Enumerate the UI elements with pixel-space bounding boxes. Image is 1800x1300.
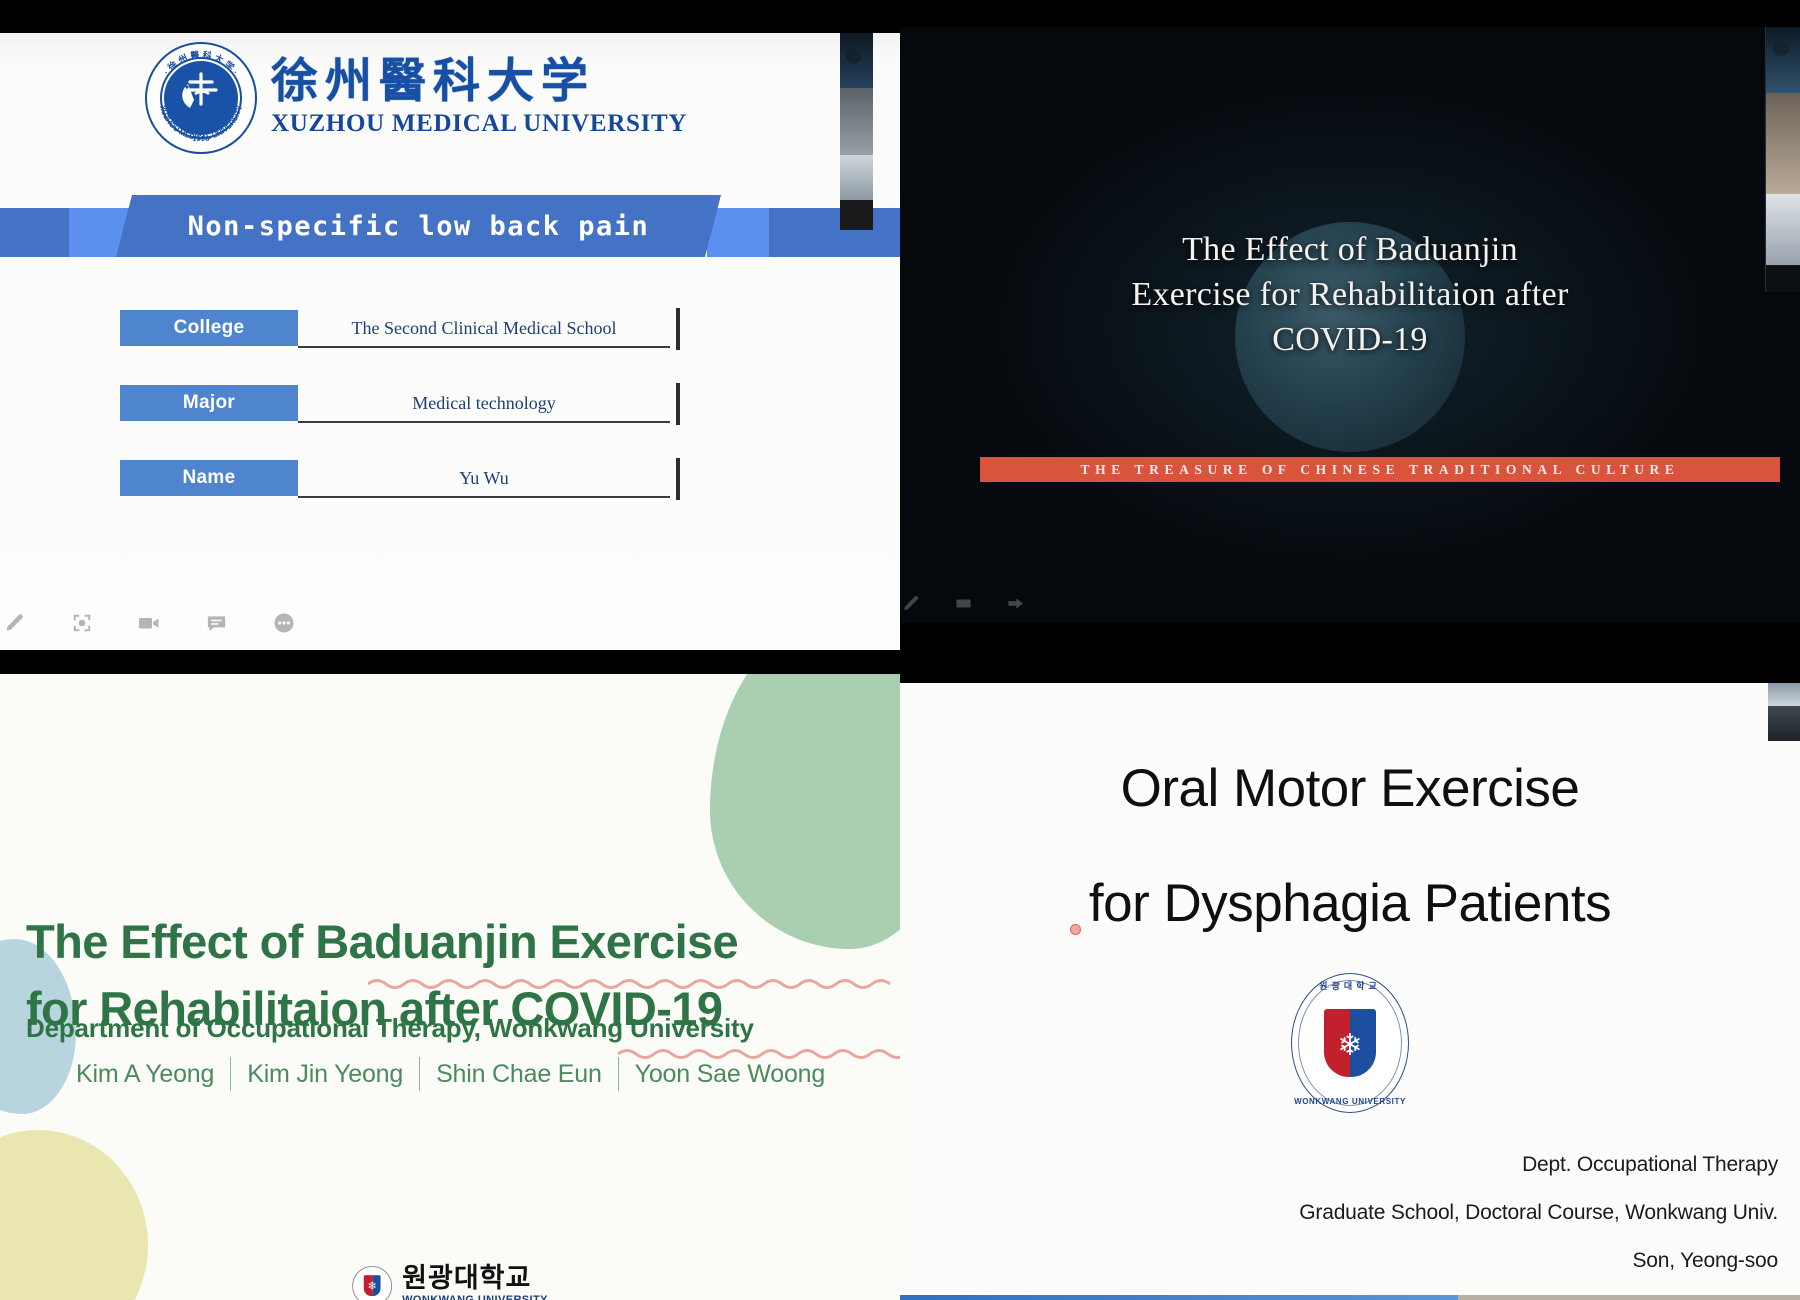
table-row: College The Second Clinical Medical Scho…	[120, 310, 680, 346]
field-key-major: Major	[120, 385, 298, 421]
video-camera-icon[interactable]	[132, 606, 166, 640]
pencil-icon[interactable]	[0, 606, 32, 640]
participant-webcam-thumbnail[interactable]	[840, 33, 873, 230]
author-name: Yoon Sae Woong	[619, 1060, 841, 1089]
panel1-annotation-toolbar[interactable]	[0, 601, 900, 645]
panel2-title-line3: COVID-19	[900, 317, 1800, 362]
panel4-slide-surface: Oral Motor Exercise for Dysphagia Patien…	[900, 683, 1800, 1300]
field-value-name: Yu Wu	[298, 460, 670, 498]
field-value-college: The Second Clinical Medical School	[298, 310, 670, 348]
panel2-slide-surface: The Effect of Baduanjin Exercise for Reh…	[900, 27, 1800, 623]
video-conference-gallery-grid: · 徐 州 醫 科 大 学 · XUZHOU MEDICAL UNIVERSIT…	[0, 0, 1800, 1300]
panel3-title-line1: The Effect of Baduanjin Exercise	[26, 909, 900, 976]
slide-title-ribbon: Non-specific low back pain	[0, 195, 900, 257]
meta-department: Dept. Occupational Therapy	[1138, 1153, 1778, 1177]
participant-panel-xuzhou[interactable]: · 徐 州 醫 科 大 学 · XUZHOU MEDICAL UNIVERSIT…	[0, 0, 900, 650]
xuzhou-bird-emblem-icon	[174, 70, 228, 120]
slide-accent-bar-secondary	[1458, 1295, 1800, 1300]
wonkwang-footer-logo: ❄ 원광대학교 WONKWANG UNIVERSITY	[352, 1265, 548, 1300]
participant-panel-baduanjin-green[interactable]: The Effect of Baduanjin Exercise for Reh…	[0, 650, 900, 1300]
panel2-title-line1: The Effect of Baduanjin	[900, 227, 1800, 272]
panel2-letterbox-top	[900, 0, 1800, 27]
more-ellipsis-icon[interactable]	[267, 606, 301, 640]
xuzhou-name-english: XUZHOU MEDICAL UNIVERSITY	[271, 110, 687, 138]
participant-webcam-thumbnail[interactable]	[1768, 683, 1800, 741]
seal-korean-text: 원광대학교	[1291, 979, 1409, 992]
participant-panel-covid-dark[interactable]: The Effect of Baduanjin Exercise for Reh…	[900, 0, 1800, 650]
meta-presenter: Son, Yeong-soo	[1138, 1249, 1778, 1273]
table-row: Major Medical technology	[120, 385, 680, 421]
slide-title: Non-specific low back pain	[116, 195, 721, 257]
table-row: Name Yu Wu	[120, 460, 680, 496]
panel3-slide-surface: The Effect of Baduanjin Exercise for Reh…	[0, 674, 900, 1300]
xuzhou-name-chinese: 徐州醫科大学	[271, 59, 687, 106]
decorative-yellow-blob	[0, 1130, 148, 1300]
xuzhou-logo-text: 徐州醫科大学 XUZHOU MEDICAL UNIVERSITY	[271, 59, 687, 138]
row-end-cap	[676, 458, 680, 500]
panel4-letterbox-top	[900, 650, 1800, 683]
panel2-title-line2: Exercise for Rehabilitaion after	[900, 272, 1800, 317]
xuzhou-logo-row: · 徐 州 醫 科 大 学 · XUZHOU MEDICAL UNIVERSIT…	[145, 42, 687, 154]
wonkwang-name-korean: 원광대학교	[402, 1265, 548, 1292]
decorative-green-blob	[710, 674, 900, 949]
panel4-author-meta: Dept. Occupational Therapy Graduate Scho…	[1138, 1153, 1778, 1297]
chat-icon[interactable]	[199, 606, 233, 640]
xuzhou-seal-icon: · 徐 州 醫 科 大 学 · XUZHOU MEDICAL UNIVERSIT…	[145, 42, 257, 154]
xuzhou-seal-year: 1958	[192, 136, 210, 143]
arrow-right-icon[interactable]	[1002, 590, 1028, 616]
panel1-letterbox-top	[0, 0, 900, 33]
wonkwang-seal-icon: ❄	[352, 1266, 392, 1300]
row-end-cap	[676, 308, 680, 350]
panel2-title: The Effect of Baduanjin Exercise for Reh…	[900, 227, 1800, 363]
meta-program: Graduate School, Doctoral Course, Wonkwa…	[1138, 1201, 1778, 1225]
wonkwang-name-english: WONKWANG UNIVERSITY	[402, 1295, 548, 1300]
stop-square-icon[interactable]	[950, 590, 976, 616]
panel3-letterbox-top	[0, 650, 900, 674]
panel2-subtitle-banner: THE TREASURE OF CHINESE TRADITIONAL CULT…	[980, 457, 1780, 482]
author-name: Shin Chae Eun	[420, 1060, 618, 1089]
seal-english-text: WONKWANG UNIVERSITY	[1291, 1097, 1409, 1106]
panel3-department: Department of Occupational Therapy, Wonk…	[26, 1013, 900, 1044]
participant-webcam-thumbnail[interactable]	[1765, 27, 1800, 292]
field-key-college: College	[120, 310, 298, 346]
pencil-icon[interactable]	[900, 590, 924, 616]
screenshot-icon[interactable]	[65, 606, 99, 640]
panel3-author-list: Kim A Yeong Kim Jin Yeong Shin Chae Eun …	[60, 1057, 841, 1091]
participant-panel-oral-motor[interactable]: Oral Motor Exercise for Dysphagia Patien…	[900, 650, 1800, 1300]
panel2-annotation-toolbar[interactable]	[900, 586, 1800, 620]
wonkwang-university-seal-icon: 원광대학교 ❄ WONKWANG UNIVERSITY	[1291, 973, 1409, 1113]
squiggle-underline-1	[368, 976, 898, 990]
field-value-major: Medical technology	[298, 385, 670, 423]
panel2-subtitle-text: THE TREASURE OF CHINESE TRADITIONAL CULT…	[1080, 462, 1679, 478]
row-end-cap	[676, 383, 680, 425]
panel4-title-line1: Oral Motor Exercise	[900, 758, 1800, 819]
field-key-name: Name	[120, 460, 298, 496]
panel4-title-line2: for Dysphagia Patients	[900, 873, 1800, 934]
info-table: College The Second Clinical Medical Scho…	[120, 310, 680, 535]
author-name: Kim Jin Yeong	[231, 1060, 419, 1089]
author-name: Kim A Yeong	[60, 1060, 230, 1089]
